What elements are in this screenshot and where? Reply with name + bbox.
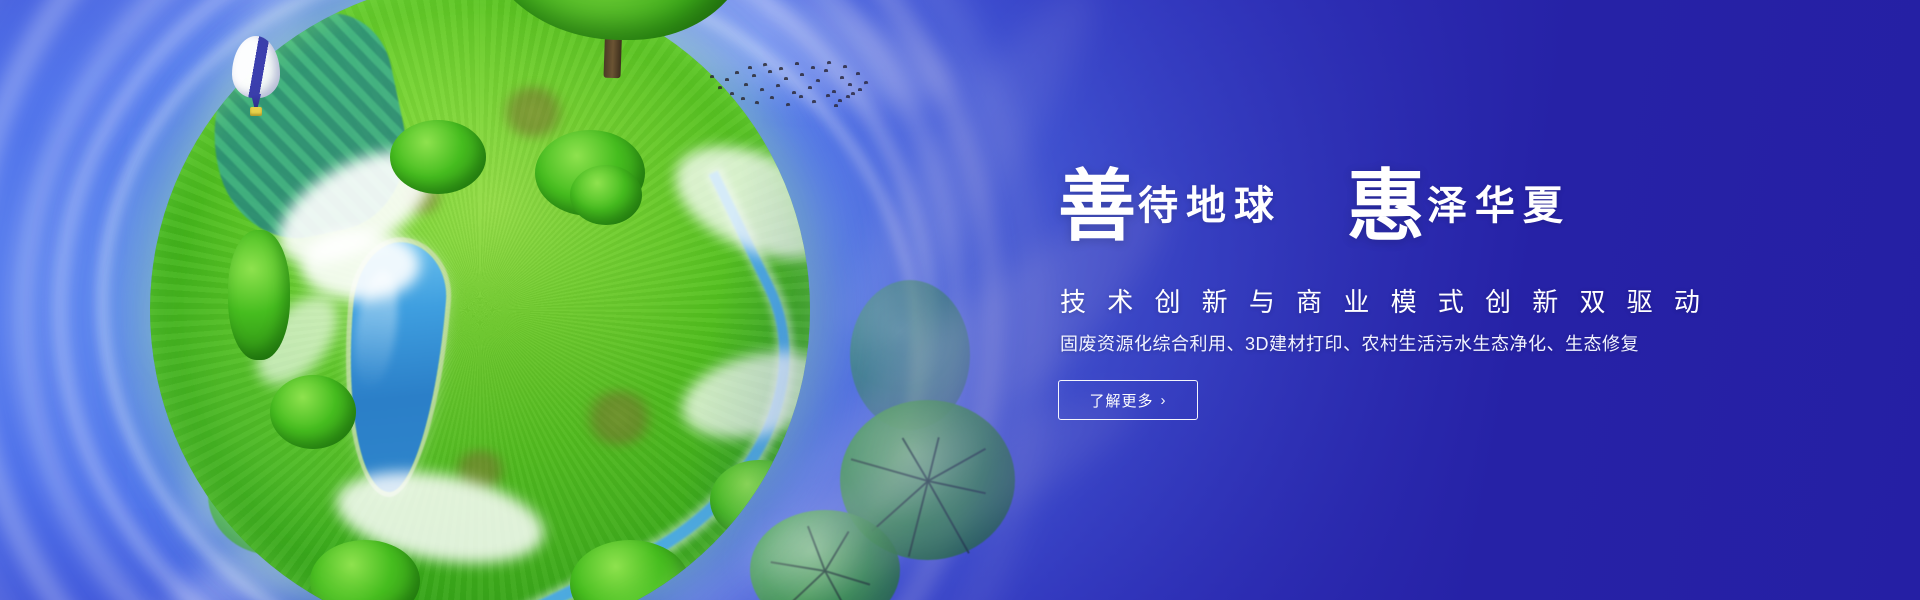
hero-content: 善待地球 惠泽华夏 技 术 创 新 与 商 业 模 式 创 新 双 驱 动 固废… [1058, 0, 1818, 600]
headline-chars-small-2: 泽华夏 [1427, 182, 1571, 229]
headline-chars-small-1: 待地球 [1138, 182, 1282, 229]
learn-more-label: 了解更多 [1089, 390, 1153, 411]
headline-char-large-2: 惠 [1347, 161, 1425, 252]
headline-phrase-1: 善待地球 [1058, 160, 1282, 238]
hero-subtitle: 技 术 创 新 与 商 业 模 式 创 新 双 驱 动 [1060, 282, 1707, 319]
hero-banner: 善待地球 惠泽华夏 技 术 创 新 与 商 业 模 式 创 新 双 驱 动 固废… [0, 0, 1920, 600]
headline-phrase-2: 惠泽华夏 [1347, 160, 1571, 238]
learn-more-button[interactable]: 了解更多 › [1058, 380, 1198, 420]
headline-char-large-1: 善 [1058, 161, 1136, 252]
hero-description: 固废资源化综合利用、3D建材打印、农村生活污水生态净化、生态修复 [1060, 330, 1639, 356]
hero-headline: 善待地球 惠泽华夏 [1058, 160, 1818, 250]
chevron-right-icon: › [1161, 393, 1167, 408]
